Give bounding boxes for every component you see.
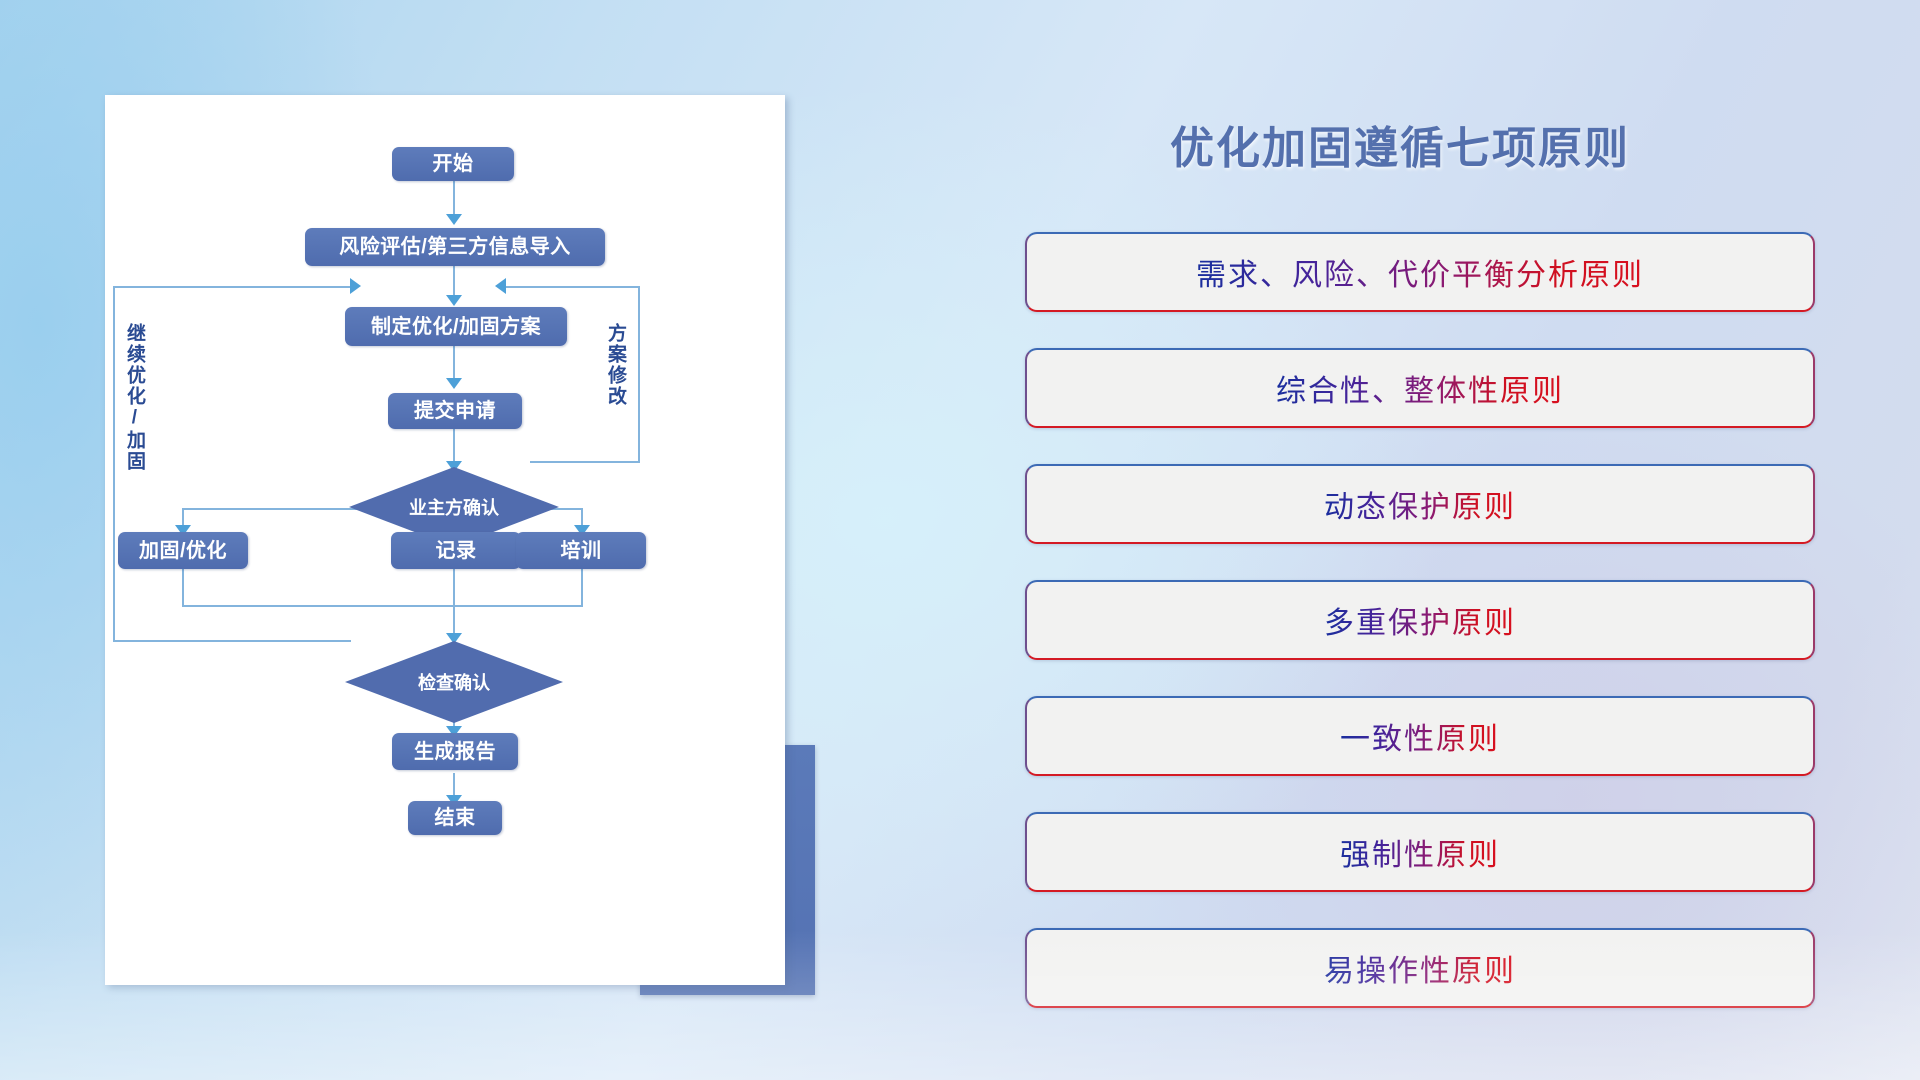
principle-label: 强制性原则 <box>1340 830 1500 874</box>
side-label-continue-optimize: 继续优化/加固 <box>124 323 144 472</box>
flow-node-label: 培训 <box>561 541 602 561</box>
arrow-risk-plan <box>446 295 462 306</box>
flow-node-label: 提交申请 <box>414 401 496 421</box>
principle-label: 综合性、整体性原则 <box>1276 366 1564 410</box>
arrow-start-risk <box>446 214 462 225</box>
principle-label: 需求、风险、代价平衡分析原则 <box>1196 250 1644 294</box>
flow-node-record[interactable]: 记录 <box>391 532 521 569</box>
flow-node-generate-report[interactable]: 生成报告 <box>392 733 518 770</box>
flow-node-label: 生成报告 <box>414 742 496 762</box>
flow-node-label: 风险评估/第三方信息导入 <box>339 237 571 257</box>
flowchart-card: 开始 风险评估/第三方信息导入 制定优化/加固方案 提交申请 业主方确认 加固/… <box>105 95 785 985</box>
flow-node-risk-assessment[interactable]: 风险评估/第三方信息导入 <box>305 228 605 266</box>
flow-node-label: 检查确认 <box>418 669 490 695</box>
flow-node-end[interactable]: 结束 <box>408 801 502 835</box>
principle-item-1[interactable]: 需求、风险、代价平衡分析原则 <box>1025 232 1815 312</box>
flow-node-submit-application[interactable]: 提交申请 <box>388 393 522 429</box>
principles-list: 需求、风险、代价平衡分析原则 综合性、整体性原则 动态保护原则 多重保护原则 一… <box>1025 232 1815 1044</box>
principle-item-2[interactable]: 综合性、整体性原则 <box>1025 348 1815 428</box>
flow-node-label: 结束 <box>435 808 476 828</box>
connector-right-rail <box>638 286 640 463</box>
flow-node-check-confirm[interactable]: 检查确认 <box>345 641 563 723</box>
flow-node-plan[interactable]: 制定优化/加固方案 <box>345 307 567 346</box>
connector-merge-bus <box>182 605 582 607</box>
flow-node-label: 业主方确认 <box>409 494 499 520</box>
flow-node-label: 开始 <box>433 154 474 174</box>
flow-node-reinforce-optimize[interactable]: 加固/优化 <box>118 532 248 569</box>
principle-item-4[interactable]: 多重保护原则 <box>1025 580 1815 660</box>
flow-node-label: 制定优化/加固方案 <box>371 317 541 337</box>
connector-right-rail-top <box>505 286 640 288</box>
connector-left-rail <box>113 286 115 641</box>
principle-label: 一致性原则 <box>1340 714 1500 758</box>
flow-node-label: 加固/优化 <box>139 541 227 561</box>
connector-record-down <box>453 569 455 641</box>
connector-start-risk <box>453 179 455 219</box>
connector-right-from-owner <box>530 461 640 463</box>
arrow-right-rail-into-plan <box>495 278 506 294</box>
page-title: 优化加固遵循七项原则 <box>1000 112 1800 176</box>
connector-left-rail-top <box>113 286 353 288</box>
principle-item-7[interactable]: 易操作性原则 <box>1025 928 1815 1008</box>
arrow-plan-submit <box>446 378 462 389</box>
side-label-plan-revision: 方案修改 <box>605 323 625 407</box>
principle-item-5[interactable]: 一致性原则 <box>1025 696 1815 776</box>
principle-item-6[interactable]: 强制性原则 <box>1025 812 1815 892</box>
slide-canvas: 开始 风险评估/第三方信息导入 制定优化/加固方案 提交申请 业主方确认 加固/… <box>0 0 1920 1080</box>
flow-node-training[interactable]: 培训 <box>516 532 646 569</box>
arrow-left-rail-into-plan <box>350 278 361 294</box>
principle-item-3[interactable]: 动态保护原则 <box>1025 464 1815 544</box>
flow-node-start[interactable]: 开始 <box>392 147 514 181</box>
principle-label: 多重保护原则 <box>1324 598 1516 642</box>
principle-label: 易操作性原则 <box>1324 946 1516 990</box>
principle-label: 动态保护原则 <box>1324 482 1516 526</box>
connector-train-down <box>581 569 583 607</box>
connector-reinforce-down <box>182 569 184 607</box>
connector-left-rail-bottom <box>113 640 351 642</box>
flow-node-label: 记录 <box>436 541 477 561</box>
